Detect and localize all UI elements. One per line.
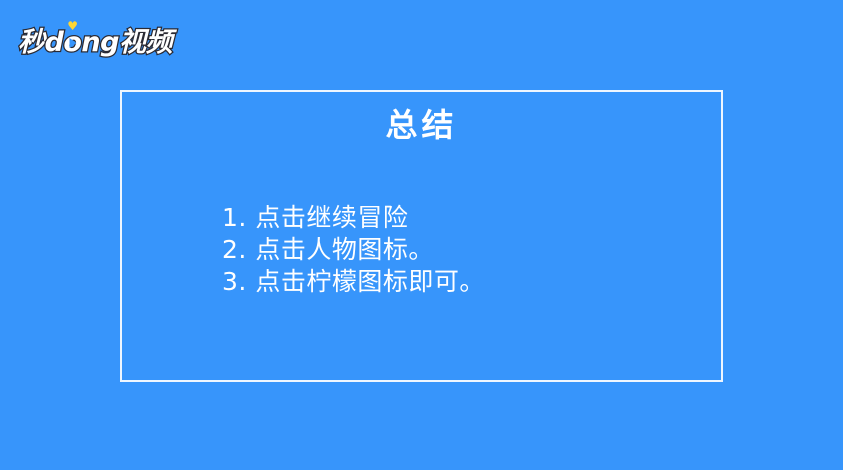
list-item: 3. 点击柠檬图标即可。 xyxy=(222,266,485,298)
list-item-number: 1. xyxy=(222,203,247,232)
summary-list: 1. 点击继续冒险 2. 点击人物图标。 3. 点击柠檬图标即可。 xyxy=(222,202,485,298)
list-item-number: 3. xyxy=(222,267,247,296)
list-item-text: 点击柠檬图标即可。 xyxy=(255,267,485,296)
logo-letters-ng: ng xyxy=(81,29,119,56)
list-item: 1. 点击继续冒险 xyxy=(222,202,485,234)
logo-letter-o-group: ♥o xyxy=(63,29,81,56)
list-item-text: 点击继续冒险 xyxy=(255,203,408,232)
page-title: 总结 xyxy=(122,106,721,144)
heart-icon: ♥ xyxy=(67,20,77,32)
brand-logo-text: 秒d♥ong视频 xyxy=(18,29,172,56)
content-frame: 总结 1. 点击继续冒险 2. 点击人物图标。 3. 点击柠檬图标即可。 xyxy=(120,90,723,382)
logo-letter-d: d xyxy=(45,29,64,56)
logo-char-miao: 秒 xyxy=(18,29,45,56)
list-item-text: 点击人物图标。 xyxy=(255,235,434,264)
brand-logo: 秒d♥ong视频 xyxy=(18,22,168,62)
list-item: 2. 点击人物图标。 xyxy=(222,234,485,266)
play-triangle-icon xyxy=(70,38,77,48)
logo-chars-shipin: 视频 xyxy=(119,29,172,56)
list-item-number: 2. xyxy=(222,235,247,264)
slide-canvas: 秒d♥ong视频 总结 1. 点击继续冒险 2. 点击人物图标。 3. 点击柠檬… xyxy=(0,0,843,470)
